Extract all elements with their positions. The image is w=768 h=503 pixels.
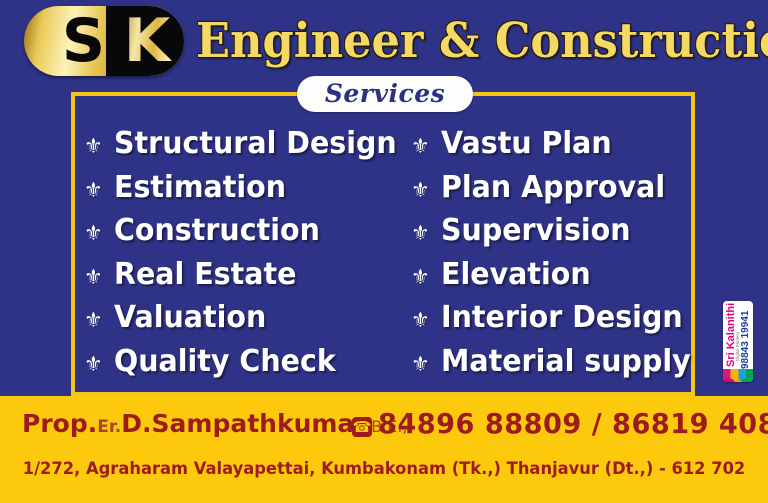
proprietor-block: Prop.Er.D.Sampathkumar B.E., [22, 400, 407, 448]
address-line: 1/272, Agraharam Valayapettai, Kumbakona… [15, 452, 752, 486]
service-label: Plan Approval [441, 166, 672, 210]
fleur-de-lis-icon: ⚜ [411, 125, 441, 169]
prop-prefix: Prop. [22, 409, 97, 438]
fleur-de-lis-icon: ⚜ [411, 343, 441, 387]
services-columns: ⚜ Structural Design ⚜ Estimation ⚜ Const… [84, 122, 684, 384]
service-label: Material supply [441, 340, 691, 384]
printer-credit-sticker: Sri Kalanithi Digital Printers 98843 199… [723, 301, 753, 382]
designation: Er. [97, 417, 121, 437]
service-label: Interior Design [441, 296, 683, 340]
proprietor-name: D.Sampathkumar [121, 409, 366, 438]
service-item: ⚜ Real Estate [84, 253, 411, 297]
fleur-de-lis-icon: ⚜ [84, 125, 114, 169]
logo-letter-k: K [116, 10, 178, 72]
service-item: ⚜ Elevation [411, 253, 684, 297]
fleur-de-lis-icon: ⚜ [84, 343, 114, 387]
service-label: Estimation [114, 166, 396, 210]
printer-phone: 98843 19941 [740, 305, 751, 369]
service-item: ⚜ Quality Check [84, 340, 411, 384]
service-item: ⚜ Interior Design [411, 296, 684, 340]
services-column-right: ⚜ Vastu Plan ⚜ Plan Approval ⚜ Supervisi… [411, 122, 684, 384]
logo-letter-s: S [50, 10, 116, 72]
advertisement-banner: S K Engineer & Construction Services ⚜ S… [0, 0, 768, 503]
service-label: Construction [114, 209, 396, 253]
service-label: Supervision [441, 209, 672, 253]
fleur-de-lis-icon: ⚜ [84, 169, 114, 213]
services-column-left: ⚜ Structural Design ⚜ Estimation ⚜ Const… [84, 122, 411, 384]
fleur-de-lis-icon: ⚜ [84, 212, 114, 256]
fleur-de-lis-icon: ⚜ [411, 256, 441, 300]
company-title: Engineer & Construction [196, 8, 722, 74]
service-item: ⚜ Vastu Plan [411, 122, 684, 166]
service-item: ⚜ Plan Approval [411, 166, 684, 210]
rainbow-logo-icon [723, 369, 753, 382]
service-label: Valuation [114, 296, 396, 340]
service-item: ⚜ Valuation [84, 296, 411, 340]
service-item: ⚜ Construction [84, 209, 411, 253]
service-item: ⚜ Estimation [84, 166, 411, 210]
phone-numbers[interactable]: 84896 88809 / 86819 40861 [378, 400, 768, 448]
services-badge: Services [297, 76, 473, 112]
fleur-de-lis-icon: ⚜ [411, 299, 441, 343]
company-logo: S K [24, 6, 184, 76]
service-item: ⚜ Supervision [411, 209, 684, 253]
fleur-de-lis-icon: ⚜ [411, 169, 441, 213]
service-label: Structural Design [114, 122, 397, 166]
fleur-de-lis-icon: ⚜ [411, 212, 441, 256]
contact-bar: Prop.Er.D.Sampathkumar B.E., ☎84896 8880… [0, 396, 768, 503]
service-label: Vastu Plan [441, 122, 672, 166]
service-label: Elevation [441, 253, 672, 297]
fleur-de-lis-icon: ⚜ [84, 256, 114, 300]
service-item: ⚜ Material supply [411, 340, 684, 384]
fleur-de-lis-icon: ⚜ [84, 299, 114, 343]
phone-icon: ☎ [352, 417, 372, 437]
service-label: Real Estate [114, 253, 396, 297]
contact-row: Prop.Er.D.Sampathkumar B.E., ☎84896 8880… [0, 400, 768, 448]
service-label: Quality Check [114, 340, 396, 384]
services-badge-label: Services [297, 76, 473, 112]
phone-block[interactable]: ☎84896 88809 / 86819 40861 [352, 400, 768, 448]
service-item: ⚜ Structural Design [84, 122, 411, 166]
